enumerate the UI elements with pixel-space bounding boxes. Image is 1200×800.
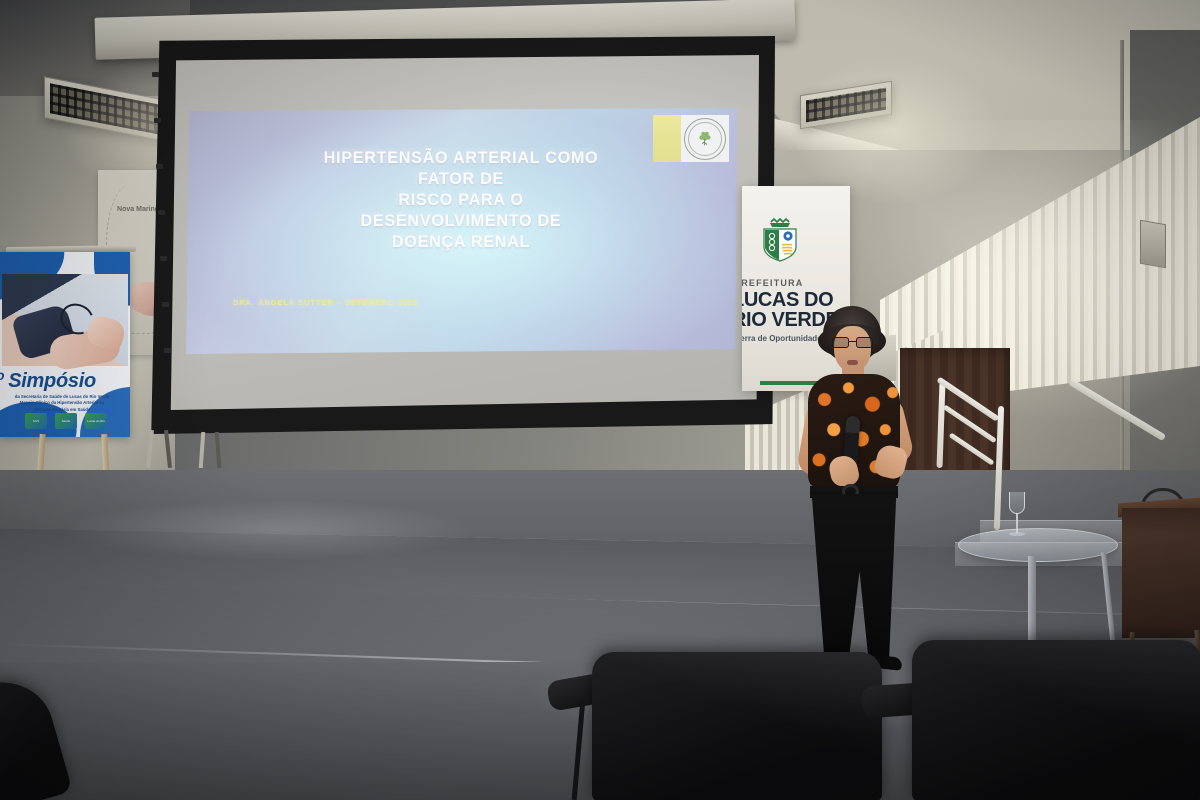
screen-tension-tab — [160, 256, 167, 261]
partner-logo: SUS — [25, 413, 47, 429]
foreground-chair-center[interactable] — [592, 652, 882, 800]
banner-subtitle-line: Manejo Clínico da Hipertensão Arterial n… — [4, 400, 120, 406]
glasses-bridge — [849, 341, 856, 342]
simposio-banner: º Simpósio da Secretaria de Saúde de Luc… — [0, 252, 130, 437]
glass-bowl — [1009, 492, 1025, 514]
lens-right — [856, 337, 873, 348]
screen-tension-tab — [156, 164, 163, 169]
screen-tension-tab — [164, 348, 171, 353]
projected-slide: HIPERTENSÃO ARTERIAL COMO FATOR DE RISCO… — [185, 108, 737, 354]
coat-of-arms-icon — [758, 216, 802, 264]
screen-tension-tab — [152, 72, 159, 77]
light-grille-pattern — [806, 88, 886, 123]
screen-tension-tab — [158, 210, 165, 215]
prefeitura-label: PREFEITURA — [742, 278, 850, 288]
screen-tension-tab — [154, 118, 161, 123]
lens-left — [832, 337, 849, 348]
eyeglasses-icon — [832, 337, 873, 348]
speaker-person — [780, 306, 930, 686]
banner-photo — [2, 274, 128, 366]
partner-logo: Saúde — [55, 413, 77, 429]
wood-desk — [1122, 508, 1200, 638]
slide-content: HIPERTENSÃO ARTERIAL COMO FATOR DE RISCO… — [185, 108, 737, 354]
screen-tension-tab — [162, 302, 169, 307]
partner-logo: Lucas do Rio Verde — [85, 413, 107, 429]
slide-subtitle: DRA. ÂNGELA SUTTER – SETEMBRO 2022 — [233, 298, 418, 307]
mouth — [847, 360, 858, 365]
auditorium-photo: Nova Maringá HIPERTE — [0, 0, 1200, 800]
foreground-chair-right[interactable] — [912, 640, 1200, 800]
slide-title: HIPERTENSÃO ARTERIAL COMO FATOR DE RISCO… — [324, 148, 599, 253]
glass-side-table — [958, 528, 1118, 562]
trousers — [808, 494, 900, 662]
wall-speaker-box — [1140, 220, 1166, 269]
simposio-banner-stand: º Simpósio da Secretaria de Saúde de Luc… — [0, 246, 136, 486]
banner-headline: º Simpósio — [0, 370, 130, 393]
banner-partner-logos: SUS Saúde Lucas do Rio Verde — [18, 411, 114, 431]
